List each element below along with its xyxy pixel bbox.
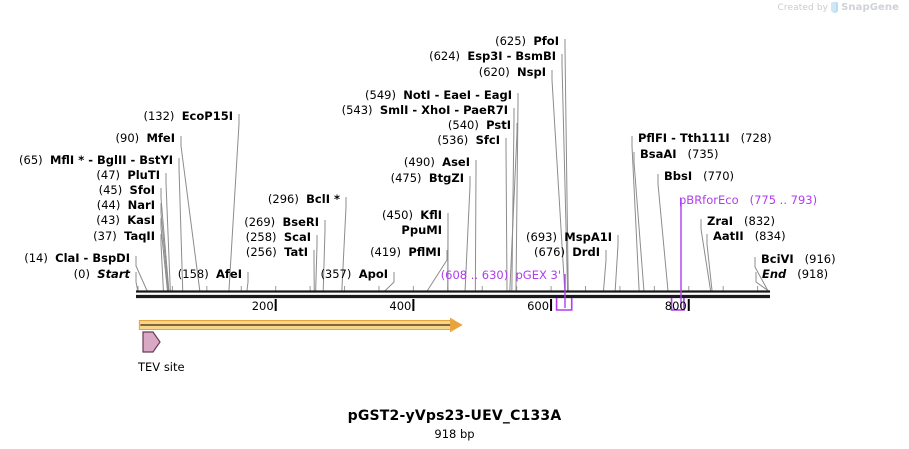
site-position: (475) [391, 171, 422, 185]
enzyme-name: TatI [284, 245, 308, 259]
enzyme-name: KflI [420, 208, 442, 222]
site-position: (37) [93, 229, 117, 243]
site-label-zrai[interactable]: ZraI (832) [707, 215, 775, 228]
enzyme-name: XhoI [421, 103, 450, 117]
site-position: (132) [143, 109, 174, 123]
site-position: (735) [688, 147, 719, 161]
enzyme-separator: - [450, 103, 463, 117]
site-label-bcli[interactable]: (296) BclI * [268, 193, 340, 206]
site-position: (770) [703, 169, 734, 183]
enzyme-separator: - [667, 131, 680, 145]
site-position: (490) [404, 155, 435, 169]
map-title-block: pGST2-yVps23-UEV_C133A 918 bp [0, 408, 909, 441]
site-label-asei[interactable]: (490) AseI [404, 156, 470, 169]
enzyme-name: Start [97, 267, 130, 281]
feature-label-pgex3[interactable]: (608 .. 630) pGEX 3' [441, 269, 561, 282]
enzyme-name: PfoI [533, 34, 559, 48]
enzyme-name: NarI [128, 198, 155, 212]
site-label-end[interactable]: End (918) [762, 268, 828, 281]
site-position: (90) [116, 131, 140, 145]
site-label-sfci[interactable]: (536) SfcI [437, 134, 500, 147]
site-leader-line [323, 220, 325, 292]
site-label-nspi[interactable]: (620) NspI [479, 66, 546, 79]
site-label-pluti[interactable]: (47) PluTI [96, 169, 160, 182]
site-position: (14) [24, 251, 48, 265]
enzyme-name: BsaAI [640, 147, 677, 161]
site-label-kfli[interactable]: (450) KflI [382, 209, 442, 222]
site-label-mfei[interactable]: (90) MfeI [116, 132, 175, 145]
site-position: (832) [744, 214, 775, 228]
site-label-btgzi[interactable]: (475) BtgZI [391, 172, 464, 185]
enzyme-name: NspI [517, 65, 546, 79]
enzyme-separator: - [84, 153, 97, 167]
site-leader-line [701, 219, 711, 292]
enzyme-name: AfeI [216, 267, 242, 281]
enzyme-name: BsmBI [515, 49, 556, 63]
site-position: (269) [244, 215, 275, 229]
site-label-noti[interactable]: (549) NotI - EaeI - EagI [365, 89, 512, 102]
site-position: (676) [534, 245, 565, 259]
ruler-label-400: 400 [389, 299, 411, 313]
enzyme-separator: - [80, 251, 93, 265]
site-position: (540) [448, 118, 479, 132]
enzyme-separator: - [408, 103, 421, 117]
enzyme-name: PaeR7I [463, 103, 508, 117]
site-position: (357) [320, 267, 351, 281]
enzyme-name: SfcI [476, 133, 500, 147]
site-position: (624) [429, 49, 460, 63]
enzyme-name: ClaI [55, 251, 79, 265]
ruler-label-200: 200 [252, 299, 274, 313]
plasmid-map-canvas: Created by SnapGene (0) Start(14) ClaI -… [0, 0, 909, 449]
site-position: (296) [268, 192, 299, 206]
site-position: (536) [437, 133, 468, 147]
enzyme-name: EagI [484, 88, 512, 102]
enzyme-name: ZraI [707, 214, 733, 228]
enzyme-name: KasI [127, 213, 155, 227]
enzyme-name: ScaI [284, 230, 311, 244]
site-label-psti[interactable]: (540) PstI [448, 119, 511, 132]
site-leader-line [316, 235, 317, 292]
site-leader-line [603, 250, 606, 292]
site-label-mfli[interactable]: (65) MflI * - BglII - BstYI [19, 154, 173, 167]
enzyme-name: BglII [97, 153, 127, 167]
enzyme-name: PstI [486, 118, 511, 132]
feature-bracket-pgex3 [557, 298, 572, 310]
site-leader-line [615, 235, 618, 292]
enzyme-separator: - [127, 153, 140, 167]
site-label-ppumi[interactable]: PpuMI [401, 224, 442, 237]
site-label-scai[interactable]: (258) ScaI [246, 231, 311, 244]
enzyme-name: End [762, 267, 786, 281]
site-label-drdi[interactable]: (676) DrdI [534, 246, 600, 259]
site-label-aatii[interactable]: AatII (834) [713, 230, 786, 243]
site-position: (43) [96, 213, 120, 227]
site-position: (450) [382, 208, 413, 222]
site-position: (158) [178, 267, 209, 281]
enzyme-name: BstYI [139, 153, 173, 167]
site-label-bsaai[interactable]: BsaAI (735) [640, 148, 718, 161]
site-position: (625) [495, 34, 526, 48]
site-leader-line [247, 272, 248, 292]
enzyme-name: BclI * [306, 192, 340, 206]
ruler-label-600: 600 [527, 299, 549, 313]
enzyme-name: BseRI [282, 215, 319, 229]
enzyme-name: EaeI [443, 88, 471, 102]
site-label-apoi[interactable]: (357) ApoI [320, 268, 388, 281]
plasmid-length: 918 bp [0, 427, 909, 441]
site-label-start[interactable]: (0) Start [74, 268, 130, 281]
site-leader-line [516, 93, 518, 292]
enzyme-name: DrdI [572, 245, 600, 259]
enzyme-name: PpuMI [401, 223, 442, 237]
plasmid-name: pGST2-yVps23-UEV_C133A [0, 408, 909, 424]
feature-range: (775 .. 793) [750, 193, 818, 207]
site-label-tati[interactable]: (256) TatI [246, 246, 308, 259]
site-label-smli[interactable]: (543) SmlI - XhoI - PaeR7I [342, 104, 508, 117]
site-position: (44) [97, 198, 121, 212]
site-position: (0) [74, 267, 90, 281]
site-leader-line [136, 272, 138, 292]
site-label-pflmi[interactable]: (419) PflMI [370, 246, 441, 259]
site-position: (549) [365, 88, 396, 102]
enzyme-name: MflI * [50, 153, 84, 167]
site-position: (258) [246, 230, 277, 244]
tev-site-label: TEV site [138, 360, 185, 374]
enzyme-name: TaqII [124, 229, 155, 243]
site-leader-line [229, 114, 239, 292]
enzyme-separator: - [431, 88, 444, 102]
enzyme-name: SfoI [130, 183, 155, 197]
enzyme-name: EcoP15I [182, 109, 233, 123]
enzyme-name: AatII [713, 229, 744, 243]
enzyme-separator: - [503, 49, 516, 63]
enzyme-name: PflFI [638, 131, 667, 145]
site-label-bseri[interactable]: (269) BseRI [244, 216, 319, 229]
site-position: (834) [755, 229, 786, 243]
site-label-ecop15i[interactable]: (132) EcoP15I [143, 110, 233, 123]
ruler-label-800: 800 [665, 299, 687, 313]
enzyme-name: ApoI [359, 267, 388, 281]
enzyme-name: MspA1I [564, 230, 612, 244]
site-label-nari[interactable]: (44) NarI [97, 199, 155, 212]
enzyme-name: AseI [442, 155, 470, 169]
feature-label-pbrforeco[interactable]: pBRforEco (775 .. 793) [679, 194, 817, 207]
site-position: (918) [797, 267, 828, 281]
enzyme-name: PflMI [408, 245, 441, 259]
feature-range: (608 .. 630) [441, 268, 509, 282]
enzyme-name: BbsI [664, 169, 692, 183]
site-label-mspa1i[interactable]: (693) MspA1I [526, 231, 612, 244]
tev-site-marker [143, 332, 160, 352]
site-position: (47) [96, 168, 120, 182]
site-label-pflfi[interactable]: PflFI - Tth111I (728) [638, 132, 772, 145]
enzyme-name: BtgZI [429, 171, 464, 185]
site-position: (728) [741, 131, 772, 145]
site-position: (65) [19, 153, 43, 167]
enzyme-name: MfeI [146, 131, 175, 145]
feature-name: pGEX 3' [516, 268, 562, 282]
site-label-kasi[interactable]: (43) KasI [96, 214, 155, 227]
site-position: (419) [370, 245, 401, 259]
enzyme-name: Esp3I [467, 49, 502, 63]
site-label-pfoi[interactable]: (625) PfoI [495, 35, 559, 48]
site-label-taqii[interactable]: (37) TaqII [93, 230, 155, 243]
enzyme-name: BspDI [92, 251, 130, 265]
enzyme-name: PluTI [127, 168, 160, 182]
site-label-bcivi[interactable]: BciVI (916) [761, 253, 836, 266]
enzyme-name: BciVI [761, 252, 794, 266]
enzyme-name: NotI [403, 88, 430, 102]
enzyme-separator: - [471, 88, 484, 102]
site-label-esp3i[interactable]: (624) Esp3I - BsmBI [429, 50, 556, 63]
site-position: (543) [342, 103, 373, 117]
enzyme-name: Tth111I [680, 131, 730, 145]
enzyme-name: SmlI [380, 103, 409, 117]
feature-name: pBRforEco [679, 193, 739, 207]
site-label-afei[interactable]: (158) AfeI [178, 268, 242, 281]
site-leader-line [658, 174, 668, 292]
site-position: (916) [805, 252, 836, 266]
site-position: (45) [99, 183, 123, 197]
site-label-bbsi[interactable]: BbsI (770) [664, 170, 734, 183]
site-position: (620) [479, 65, 510, 79]
site-position: (693) [526, 230, 557, 244]
site-label-sfoi[interactable]: (45) SfoI [99, 184, 155, 197]
site-position: (256) [246, 245, 277, 259]
site-label-clai[interactable]: (14) ClaI - BspDI [24, 252, 130, 265]
